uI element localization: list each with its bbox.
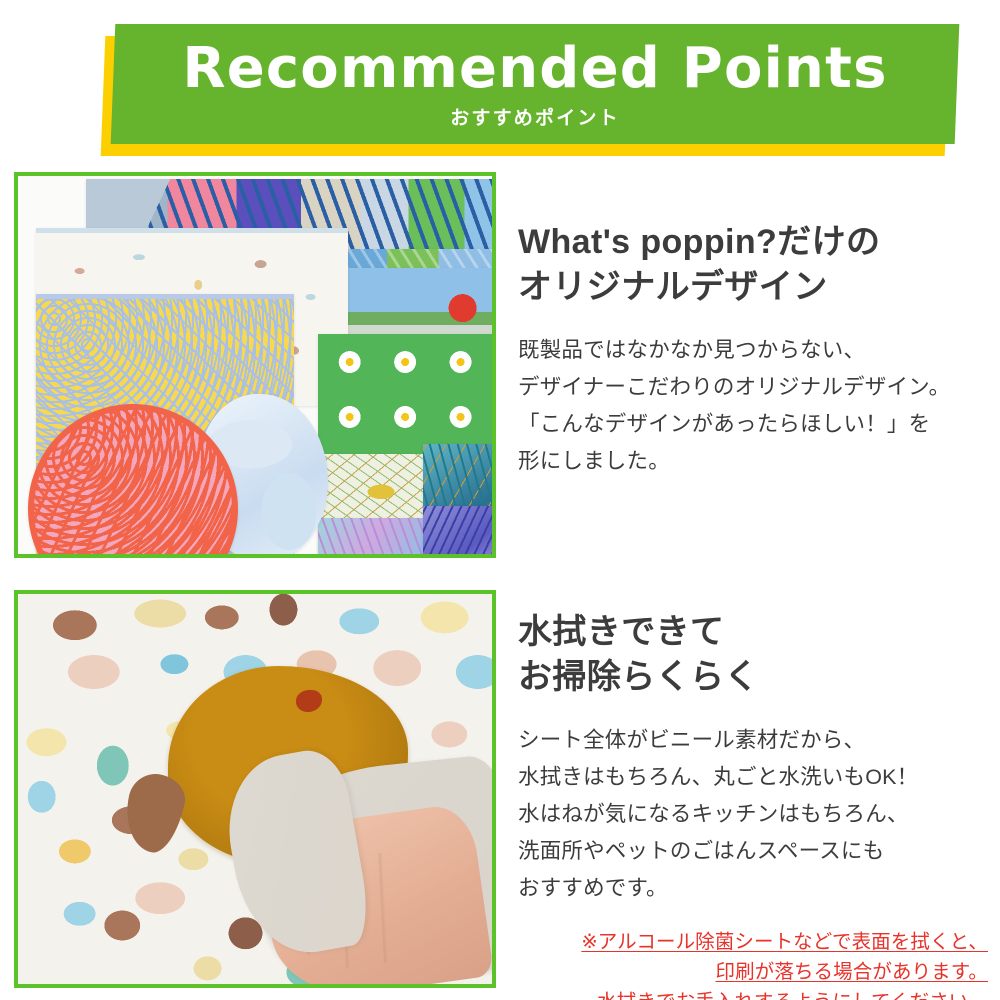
feature-photo-2 xyxy=(14,590,496,988)
sheet-green-flower xyxy=(318,334,492,456)
care-warning-note: ※アルコール除菌シートなどで表面を拭くと、 印刷が落ちる場合があります。 水拭き… xyxy=(518,927,988,1000)
feature-body-1: 既製品ではなかなか見つからない、 デザイナーこだわりのオリジナルデザイン。 「こ… xyxy=(518,332,988,480)
header-banner: Recommended Points おすすめポイント xyxy=(0,0,1000,165)
sheet-blue-red-abstract xyxy=(338,268,492,341)
feature-section-1: What's poppin?だけの オリジナルデザイン 既製品ではなかなか見つか… xyxy=(0,172,1000,562)
wipe-demo-photo xyxy=(18,594,492,984)
design-sheets-photo xyxy=(18,176,492,554)
banner-green-plate: Recommended Points おすすめポイント xyxy=(111,24,960,144)
feature-text-1: What's poppin?だけの オリジナルデザイン 既製品ではなかなか見つか… xyxy=(518,220,988,480)
page-title: Recommended Points xyxy=(182,40,887,99)
feature-body-2: シート全体がビニール素材だから、 水拭きはもちろん、丸ごと水洗いもOK！ 水はね… xyxy=(518,722,988,907)
feature-section-2: 水拭きできて お掃除らくらく シート全体がビニール素材だから、 水拭きはもちろん… xyxy=(0,590,1000,990)
feature-text-2: 水拭きできて お掃除らくらく シート全体がビニール素材だから、 水拭きはもちろん… xyxy=(518,610,988,1000)
feature-photo-1 xyxy=(14,172,496,558)
sheet-marble-indigo xyxy=(423,506,492,554)
feature-heading-2: 水拭きできて お掃除らくらく xyxy=(518,610,988,700)
sheet-marble-purple xyxy=(318,518,423,554)
feature-heading-1: What's poppin?だけの オリジナルデザイン xyxy=(518,220,988,310)
promo-page: Recommended Points おすすめポイント xyxy=(0,0,1000,1000)
page-subtitle: おすすめポイント xyxy=(450,103,620,130)
